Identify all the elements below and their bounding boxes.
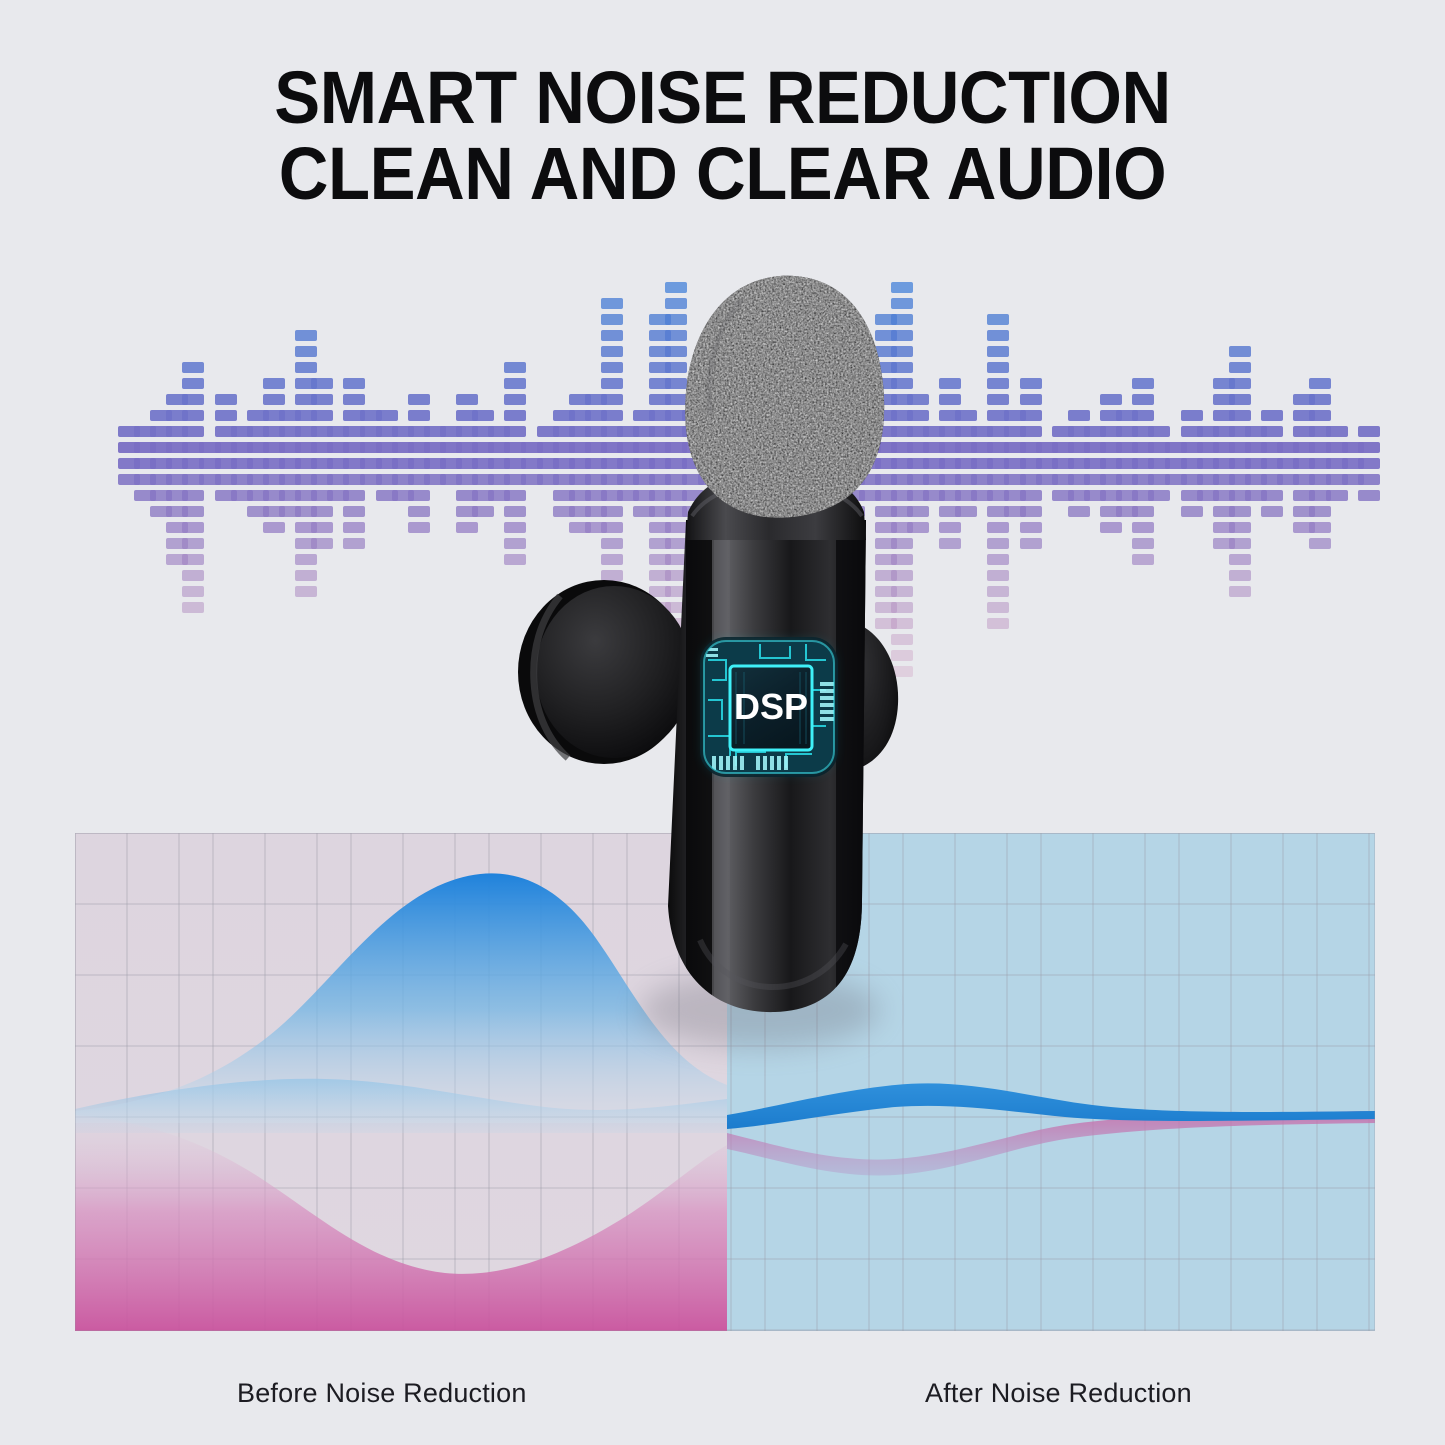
- equalizer-segment: [891, 282, 913, 293]
- equalizer-segment: [665, 378, 687, 389]
- equalizer-segment: [665, 554, 687, 565]
- equalizer-segment: [891, 554, 913, 565]
- equalizer-segment: [1229, 506, 1251, 517]
- equalizer-segment: [182, 426, 204, 437]
- equalizer-segment: [762, 586, 784, 597]
- equalizer-segment: [1181, 506, 1203, 517]
- equalizer-segment: [295, 330, 317, 341]
- equalizer-segment: [1132, 394, 1154, 405]
- equalizer-segment: [1020, 410, 1042, 421]
- before-noise-pink: [75, 1115, 727, 1331]
- equalizer-segment: [891, 602, 913, 613]
- equalizer-segment: [843, 506, 865, 517]
- equalizer-segment: [955, 506, 977, 517]
- equalizer-segment: [891, 538, 913, 549]
- equalizer-segment: [504, 362, 526, 373]
- equalizer-segment: [311, 378, 333, 389]
- equalizer-segment: [762, 362, 784, 373]
- equalizer-segment: [182, 602, 204, 613]
- equalizer-segment: [891, 650, 913, 661]
- equalizer-segment: [891, 570, 913, 581]
- equalizer-segment: [1358, 490, 1380, 501]
- equalizer-segment: [843, 522, 865, 533]
- equalizer-segment: [1100, 522, 1122, 533]
- before-signal-blue: [75, 873, 727, 1123]
- equalizer-segment: [665, 282, 687, 293]
- equalizer-segment: [665, 570, 687, 581]
- equalizer-segment: [182, 570, 204, 581]
- equalizer-segment: [601, 410, 623, 421]
- equalizer-segment: [182, 522, 204, 533]
- equalizer-segment: [1229, 378, 1251, 389]
- equalizer-segment: [504, 410, 526, 421]
- equalizer-segment: [504, 554, 526, 565]
- equalizer-segment: [601, 650, 623, 661]
- equalizer-segment: [843, 410, 865, 421]
- equalizer-segment: [311, 394, 333, 405]
- equalizer-segment: [665, 634, 687, 645]
- equalizer-segment: [215, 410, 237, 421]
- equalizer-segment: [263, 522, 285, 533]
- equalizer-segment: [955, 410, 977, 421]
- equalizer-segment: [1309, 410, 1331, 421]
- equalizer-segment: [504, 394, 526, 405]
- equalizer-segment: [182, 410, 204, 421]
- equalizer-segment: [1229, 586, 1251, 597]
- equalizer-segment: [182, 394, 204, 405]
- equalizer-segment: [762, 570, 784, 581]
- equalizer-segment: [987, 522, 1009, 533]
- equalizer-segment: [730, 410, 752, 421]
- equalizer-segment: [682, 506, 704, 517]
- equalizer-segment: [1100, 394, 1122, 405]
- noise-comparison-chart: [75, 833, 1375, 1331]
- equalizer-segment: [891, 618, 913, 629]
- equalizer-segment: [810, 410, 832, 421]
- equalizer-segment: [891, 362, 913, 373]
- equalizer-segment: [311, 538, 333, 549]
- equalizer-segment: [215, 394, 237, 405]
- equalizer-segment: [891, 586, 913, 597]
- equalizer-segment: [987, 394, 1009, 405]
- dsp-chip-label: DSP: [734, 686, 808, 727]
- equalizer-segment: [891, 634, 913, 645]
- caption-before: Before Noise Reduction: [237, 1378, 527, 1409]
- equalizer-segment: [987, 554, 1009, 565]
- equalizer-segment: [376, 410, 398, 421]
- headline-line-1: SMART NOISE REDUCTION: [51, 60, 1395, 136]
- equalizer-segment: [810, 506, 832, 517]
- equalizer-segment: [987, 586, 1009, 597]
- equalizer-segment: [665, 666, 687, 677]
- equalizer-segment: [1261, 506, 1283, 517]
- equalizer-segment: [343, 506, 365, 517]
- equalizer-segment: [1229, 538, 1251, 549]
- equalizer-segment: [682, 410, 704, 421]
- equalizer-segment: [295, 346, 317, 357]
- equalizer-segment: [182, 506, 204, 517]
- equalizer-segment: [1181, 410, 1203, 421]
- equalizer-segment: [1020, 378, 1042, 389]
- equalizer-segment: [504, 378, 526, 389]
- equalizer-segment: [1132, 522, 1154, 533]
- equalizer-segment: [939, 394, 961, 405]
- equalizer-segment: [182, 554, 204, 565]
- equalizer-segment: [843, 394, 865, 405]
- equalizer-segment: [778, 506, 800, 517]
- equalizer-segment: [665, 538, 687, 549]
- equalizer-segment: [601, 634, 623, 645]
- equalizer-segment: [778, 426, 800, 437]
- equalizer-segment: [601, 362, 623, 373]
- equalizer-segment: [730, 506, 752, 517]
- equalizer-segment: [1261, 490, 1283, 501]
- dsp-chip: DSP: [700, 637, 838, 777]
- equalizer-segment: [987, 570, 1009, 581]
- equalizer-segment: [182, 586, 204, 597]
- page-title: SMART NOISE REDUCTION CLEAN AND CLEAR AU…: [0, 60, 1445, 212]
- equalizer-segment: [601, 522, 623, 533]
- equalizer-segment: [1229, 570, 1251, 581]
- headline-line-2: CLEAN AND CLEAR AUDIO: [51, 136, 1395, 212]
- equalizer-segment: [730, 522, 752, 533]
- equalizer-segment: [601, 554, 623, 565]
- equalizer-segment: [504, 426, 526, 437]
- equalizer-segment: [601, 586, 623, 597]
- equalizer-segment: [343, 378, 365, 389]
- equalizer-segment: [343, 522, 365, 533]
- equalizer-segment: [714, 554, 736, 565]
- equalizer-segment: [665, 330, 687, 341]
- equalizer-segment: [182, 362, 204, 373]
- equalizer-segment: [1309, 378, 1331, 389]
- equalizer-segment: [665, 346, 687, 357]
- equalizer-segment: [601, 378, 623, 389]
- equalizer-segment: [1132, 538, 1154, 549]
- equalizer-segment: [1132, 506, 1154, 517]
- equalizer-segment: [762, 346, 784, 357]
- equalizer-segment: [891, 378, 913, 389]
- equalizer-segment: [472, 506, 494, 517]
- equalizer-segment: [762, 554, 784, 565]
- equalizer-segment: [1229, 394, 1251, 405]
- equalizer-segment: [311, 410, 333, 421]
- equalizer-segment: [1229, 522, 1251, 533]
- equalizer-segment: [665, 602, 687, 613]
- equalizer-segment: [182, 378, 204, 389]
- equalizer-segment: [1148, 490, 1170, 501]
- equalizer-segment: [408, 394, 430, 405]
- equalizer-segment: [456, 522, 478, 533]
- equalizer-segment: [907, 506, 929, 517]
- equalizer-segment: [987, 602, 1009, 613]
- equalizer-segment: [601, 330, 623, 341]
- equalizer-segment: [1148, 426, 1170, 437]
- equalizer-segment: [472, 410, 494, 421]
- equalizer-segment: [762, 522, 784, 533]
- equalizer-segment: [1358, 458, 1380, 469]
- equalizer-segment: [456, 394, 478, 405]
- equalizer-segment: [1358, 474, 1380, 485]
- equalizer-segment: [987, 538, 1009, 549]
- equalizer-segment: [1261, 410, 1283, 421]
- equalizer-segment: [987, 378, 1009, 389]
- equalizer-segment: [1068, 410, 1090, 421]
- equalizer-segment: [311, 522, 333, 533]
- equalizer-segment: [1358, 426, 1380, 437]
- equalizer-segment: [408, 410, 430, 421]
- equalizer-segment: [601, 538, 623, 549]
- equalizer-segment: [1326, 426, 1348, 437]
- equalizer-segment: [987, 314, 1009, 325]
- equalizer-segment: [762, 538, 784, 549]
- equalizer-segment: [665, 298, 687, 309]
- equalizer-segment: [295, 570, 317, 581]
- equalizer-segment: [907, 522, 929, 533]
- equalizer-segment: [601, 570, 623, 581]
- equalizer-segment: [891, 330, 913, 341]
- equalizer-segment: [939, 378, 961, 389]
- equalizer-segment: [504, 538, 526, 549]
- equalizer-segment: [182, 490, 204, 501]
- equalizer-segment: [891, 314, 913, 325]
- equalizer-segment: [1229, 554, 1251, 565]
- equalizer-segment: [1020, 506, 1042, 517]
- equalizer-segment: [408, 506, 430, 517]
- equalizer-segment: [682, 490, 704, 501]
- equalizer-segment: [665, 650, 687, 661]
- infographic-canvas: SMART NOISE REDUCTION CLEAN AND CLEAR AU…: [0, 0, 1445, 1445]
- equalizer-segment: [665, 522, 687, 533]
- equalizer-segment: [1020, 426, 1042, 437]
- equalizer-segment: [1261, 426, 1283, 437]
- equalizer-segment: [843, 378, 865, 389]
- equalizer-segment: [311, 506, 333, 517]
- equalizer-segment: [343, 394, 365, 405]
- equalizer-segment: [891, 666, 913, 677]
- equalizer-segment: [907, 410, 929, 421]
- equalizer-segment: [601, 618, 623, 629]
- equalizer-segment: [295, 554, 317, 565]
- waveform-svg: [75, 833, 1375, 1331]
- equalizer-segment: [182, 538, 204, 549]
- equalizer-segment: [939, 538, 961, 549]
- equalizer-segment: [504, 490, 526, 501]
- equalizer-segment: [682, 426, 704, 437]
- equalizer-segment: [1309, 394, 1331, 405]
- equalizer-segment: [1020, 522, 1042, 533]
- equalizer-segment: [1020, 394, 1042, 405]
- equalizer-segment: [295, 362, 317, 373]
- equalizer-segment: [601, 602, 623, 613]
- equalizer-segment: [1309, 522, 1331, 533]
- equalizer-segment: [891, 346, 913, 357]
- equalizer-segment: [891, 298, 913, 309]
- equalizer-segment: [1132, 378, 1154, 389]
- equalizer-segment: [665, 314, 687, 325]
- equalizer-segment: [730, 394, 752, 405]
- equalizer-segment: [1132, 410, 1154, 421]
- equalizer-segment: [939, 522, 961, 533]
- equalizer-segment: [1309, 506, 1331, 517]
- equalizer-segment: [1358, 442, 1380, 453]
- equalizer-segment: [601, 506, 623, 517]
- equalizer-segment: [1020, 538, 1042, 549]
- after-noise-pink: [727, 1111, 1375, 1176]
- equalizer-segment: [601, 346, 623, 357]
- equalizer-segment: [343, 490, 365, 501]
- equalizer-waveform-graphic: [0, 240, 1445, 600]
- equalizer-segment: [665, 362, 687, 373]
- equalizer-segment: [665, 618, 687, 629]
- equalizer-segment: [263, 394, 285, 405]
- equalizer-segment: [714, 538, 736, 549]
- equalizer-segment: [714, 362, 736, 373]
- equalizer-segment: [778, 490, 800, 501]
- equalizer-segment: [1229, 346, 1251, 357]
- equalizer-segment: [714, 378, 736, 389]
- equalizer-segment: [987, 330, 1009, 341]
- equalizer-segment: [1132, 554, 1154, 565]
- equalizer-segment: [504, 506, 526, 517]
- equalizer-segment: [714, 570, 736, 581]
- equalizer-segment: [1229, 362, 1251, 373]
- equalizer-segment: [665, 394, 687, 405]
- equalizer-segment: [295, 586, 317, 597]
- equalizer-segment: [504, 522, 526, 533]
- equalizer-segment: [601, 298, 623, 309]
- equalizer-segment: [1326, 490, 1348, 501]
- equalizer-segment: [907, 394, 929, 405]
- equalizer-segment: [987, 618, 1009, 629]
- equalizer-segment: [762, 394, 784, 405]
- equalizer-segment: [665, 586, 687, 597]
- equalizer-segment: [1309, 538, 1331, 549]
- equalizer-segment: [1068, 506, 1090, 517]
- equalizer-segment: [778, 410, 800, 421]
- equalizer-segment: [408, 490, 430, 501]
- caption-after: After Noise Reduction: [925, 1378, 1192, 1409]
- equalizer-segment: [987, 362, 1009, 373]
- equalizer-segment: [1020, 490, 1042, 501]
- equalizer-segment: [843, 538, 865, 549]
- equalizer-segment: [762, 378, 784, 389]
- equalizer-segment: [601, 394, 623, 405]
- equalizer-segment: [343, 538, 365, 549]
- equalizer-segment: [987, 346, 1009, 357]
- equalizer-segment: [408, 522, 430, 533]
- equalizer-segment: [601, 314, 623, 325]
- equalizer-segment: [1229, 410, 1251, 421]
- equalizer-segment: [263, 378, 285, 389]
